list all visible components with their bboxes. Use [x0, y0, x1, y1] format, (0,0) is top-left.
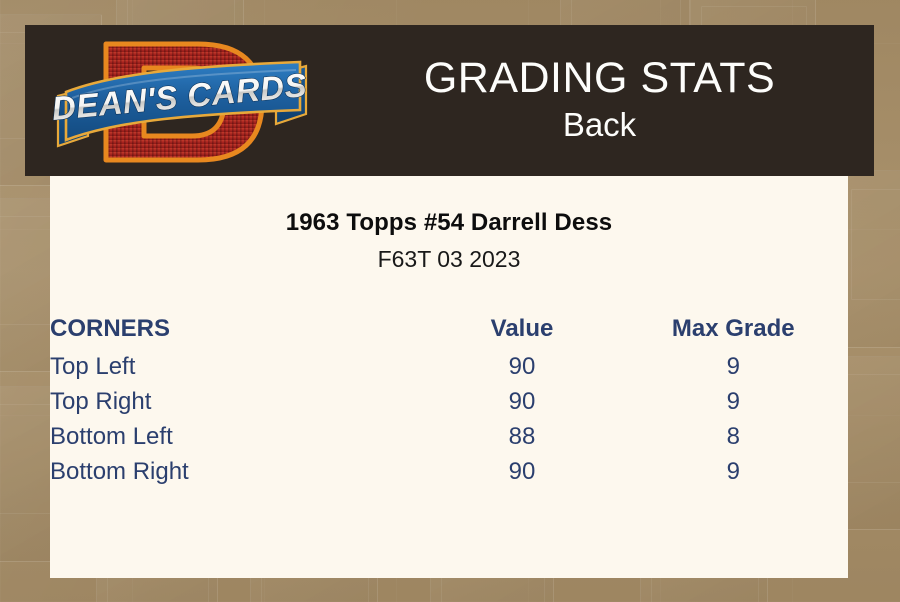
row-value: 90: [426, 349, 619, 384]
row-max-grade: 8: [618, 419, 848, 454]
background-ghost-card: [840, 170, 900, 348]
row-label: Top Left: [50, 349, 426, 384]
deans-cards-logo-icon: DEAN'S CARDS: [48, 32, 313, 172]
column-header-value: Value: [426, 309, 619, 349]
table-row: Top Left 90 9: [50, 349, 848, 384]
page-title: GRADING STATS: [424, 56, 775, 102]
table-row: Bottom Left 88 8: [50, 419, 848, 454]
row-value: 88: [426, 419, 619, 454]
header-bar: DEAN'S CARDS GRADING STATS Back: [25, 25, 874, 176]
table-header-row: CORNERS Value Max Grade: [50, 309, 848, 349]
table-row: Bottom Right 90 9: [50, 454, 848, 489]
table-header: CORNERS Value Max Grade: [50, 309, 848, 349]
card-subtitle: F63T 03 2023: [50, 237, 848, 273]
row-max-grade: 9: [618, 384, 848, 419]
row-value: 90: [426, 454, 619, 489]
grading-stats-table: CORNERS Value Max Grade Top Left 90 9 To…: [50, 309, 848, 489]
column-header-corners: CORNERS: [50, 309, 426, 349]
row-label: Top Right: [50, 384, 426, 419]
row-label: Bottom Left: [50, 419, 426, 454]
row-max-grade: 9: [618, 454, 848, 489]
table-row: Top Right 90 9: [50, 384, 848, 419]
header-title-block: GRADING STATS Back: [325, 25, 874, 176]
row-max-grade: 9: [618, 349, 848, 384]
row-label: Bottom Right: [50, 454, 426, 489]
row-value: 90: [426, 384, 619, 419]
content-panel: 1963 Topps #54 Darrell Dess F63T 03 2023…: [50, 176, 848, 578]
column-header-max-grade: Max Grade: [618, 309, 848, 349]
page-root: DEAN'S CARDS GRADING STATS Back 1963 Top…: [0, 0, 900, 602]
card-title: 1963 Topps #54 Darrell Dess: [50, 176, 848, 237]
page-subtitle: Back: [563, 104, 636, 145]
table-body: Top Left 90 9 Top Right 90 9 Bottom Left…: [50, 349, 848, 489]
